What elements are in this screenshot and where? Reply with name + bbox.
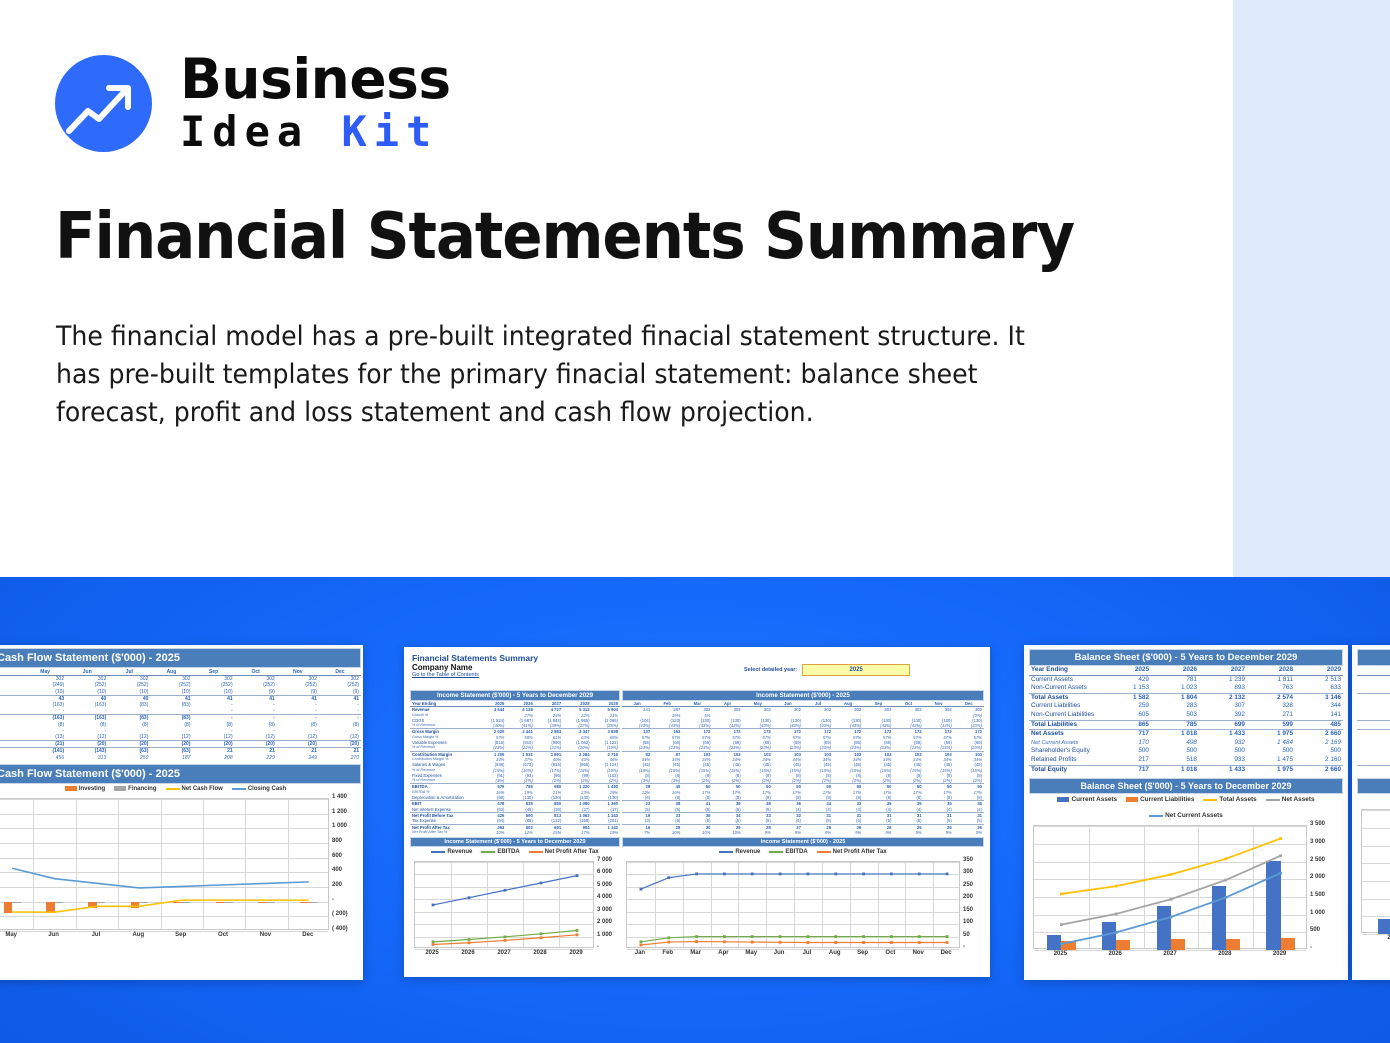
column-header: May xyxy=(24,669,66,676)
y-axis-tick: 3 500 xyxy=(1310,821,1325,827)
cell: 302 xyxy=(235,676,277,683)
balance-table-title: Balance Sheet ($'000) - 5 Years to Decem… xyxy=(1029,649,1343,666)
table-row: (163)(163)(83)(83)---- xyxy=(0,715,361,722)
y-axis-tick: 300 xyxy=(963,869,973,875)
cell: (10) xyxy=(193,689,235,696)
row-label: Shareholder's Equity xyxy=(1029,747,1103,756)
legend-swatch xyxy=(232,788,246,790)
cell: 302 xyxy=(66,676,108,683)
screenshot-income-statement[interactable]: Financial Statements Summary Company Nam… xyxy=(404,647,990,977)
x-axis-tick: Mar xyxy=(682,950,710,956)
cell: 500 xyxy=(1103,747,1151,756)
x-axis-tick: Jan xyxy=(626,950,654,956)
legend-swatch xyxy=(769,851,783,853)
legend-label: Current Liabilities xyxy=(1140,796,1194,803)
cell: 21 xyxy=(193,748,235,755)
cell: 344 xyxy=(1295,702,1343,711)
y-axis-tick: 600 xyxy=(332,853,342,859)
cell: 498 xyxy=(1151,739,1199,748)
cell: 271 xyxy=(1247,711,1295,720)
cashflow-chart-legend: InvestingFinancingNet Cash FlowClosing C… xyxy=(0,784,363,794)
row-label xyxy=(0,689,24,696)
cell: 7% xyxy=(622,830,652,835)
legend-item: Closing Cash xyxy=(232,786,286,792)
y-axis-tick: 5 000 xyxy=(597,882,612,888)
legend-item: Revenue xyxy=(431,849,472,855)
cell: (12) xyxy=(193,734,235,741)
cell: 429 xyxy=(1103,675,1151,684)
cell: 599 xyxy=(1247,720,1295,730)
table-row: Non-Current Assets1 1531 023893763633 xyxy=(1029,684,1343,693)
cell: - xyxy=(319,715,361,722)
balance-monthly-chart: 3 5003 0002 5002 0001 5001 000500-2025 xyxy=(1357,805,1390,947)
cell: (20) xyxy=(235,741,277,748)
cell: (12) xyxy=(150,734,192,741)
row-label: Retained Profits xyxy=(1029,756,1103,765)
cell: 12% xyxy=(506,830,534,835)
cell: 500 xyxy=(1295,747,1343,756)
legend-swatch xyxy=(65,786,77,791)
x-axis-tick: 2026 xyxy=(1088,951,1143,957)
y-axis-tick: 1 400 xyxy=(332,794,347,800)
table-row: 7%10%10%10%9%9%9%9%9%9%9%9% xyxy=(622,830,984,835)
x-axis-tick: Jul xyxy=(793,950,821,956)
legend-swatch xyxy=(1126,797,1138,802)
column-header: 2029 xyxy=(1295,666,1343,675)
table-row: Total Assets1 5821 8042 1322 5743 146 xyxy=(1029,693,1343,702)
legend-label: Net Cash Flow xyxy=(182,786,223,792)
cell: (163) xyxy=(24,715,66,722)
column-header: 2027 xyxy=(1199,666,1247,675)
x-axis-tick: Sep xyxy=(160,932,202,938)
cell: 43 xyxy=(24,695,66,702)
cell: 41 xyxy=(277,695,319,702)
cell: 500 xyxy=(1199,747,1247,756)
legend-swatch xyxy=(1149,815,1163,817)
y-axis-tick: - xyxy=(597,944,599,950)
select-year-label: Select detailed year: xyxy=(744,667,797,673)
cell: 518 xyxy=(1151,756,1199,765)
cell: - xyxy=(277,715,319,722)
chart-lines xyxy=(1034,826,1308,950)
x-axis-tick: 2028 xyxy=(522,950,558,956)
cell: 283 xyxy=(1151,702,1199,711)
cell: (10) xyxy=(66,689,108,696)
cell: 40 xyxy=(108,695,150,702)
column-header: Dec xyxy=(319,669,361,676)
cell: (20) xyxy=(277,741,319,748)
spacer xyxy=(1357,756,1390,765)
cell: 41 xyxy=(319,695,361,702)
cell: 9% xyxy=(924,830,954,835)
x-axis-tick: 2025 xyxy=(1033,951,1088,957)
screenshot-balance-sheet-monthly[interactable]: Jan1 1741241 297936927865121 08150012512… xyxy=(1352,645,1390,980)
x-axis-tick: Nov xyxy=(244,932,286,938)
cell: 21 xyxy=(235,748,277,755)
cell: 1 018 xyxy=(1151,730,1199,739)
spacer xyxy=(1357,739,1390,748)
brand-name-primary: Business xyxy=(180,52,451,107)
row-label xyxy=(0,748,24,755)
cell: 717 xyxy=(1103,730,1151,739)
table-row: (21)(20)(20)(20)(20)(20)(20)(20) xyxy=(0,741,361,748)
spacer xyxy=(1357,711,1390,720)
y-axis-tick: 1 000 xyxy=(597,932,612,938)
cell: 781 xyxy=(1151,675,1199,684)
cell: (12) xyxy=(235,734,277,741)
y-axis-tick: 250 xyxy=(963,882,973,888)
legend-item: Net Profit After Tax xyxy=(529,849,599,855)
row-label xyxy=(0,676,24,683)
y-axis-tick: 2 000 xyxy=(1310,874,1325,880)
table-row: 1 081 xyxy=(1357,739,1390,748)
cell: 1 582 xyxy=(1103,693,1151,702)
x-axis-tick: 2029 xyxy=(558,950,594,956)
cell: 270 xyxy=(319,755,361,761)
table-row: 93 xyxy=(1357,702,1390,711)
brand-name-secondary: Idea Kit xyxy=(180,109,451,155)
cell: (141) xyxy=(24,748,66,755)
x-axis-tick: Jul xyxy=(75,932,117,938)
cell: (12) xyxy=(66,734,108,741)
column-header: Sep xyxy=(193,669,235,676)
table-header-row: MayJunJulAugSepOctNovDec xyxy=(0,669,361,676)
legend-item: Financing xyxy=(114,786,156,792)
cell: (12) xyxy=(277,734,319,741)
cashflow-chart-title: Cash Flow Statement ($'000) - 2025 xyxy=(0,764,361,784)
cell: 633 xyxy=(1295,684,1343,693)
plot-area xyxy=(626,861,960,948)
cell: 763 xyxy=(1247,684,1295,693)
column-header: Nov xyxy=(277,669,319,676)
legend-swatch xyxy=(529,851,543,853)
cell: 229 xyxy=(235,755,277,761)
cell: (20) xyxy=(193,741,235,748)
income-monthly-chart: 35030025020015010050-JanFebMarAprMayJunJ… xyxy=(622,857,984,962)
table-row: Net Profit After Tax %10%12%15%17%19% xyxy=(410,830,620,835)
table-row: Non-Current Liabilities605503392271141 xyxy=(1029,711,1343,720)
income-monthly-chart-title: Income Statement ($'000) - 2025 xyxy=(622,837,984,847)
cell: 9% xyxy=(893,830,923,835)
cell: (9) xyxy=(319,689,361,696)
cell: 302 xyxy=(319,676,361,683)
row-label xyxy=(0,708,24,715)
y-axis-tick: - xyxy=(963,944,965,950)
income-monthly-chart-legend: RevenueEBITDANet Profit After Tax xyxy=(622,847,984,857)
cell: 328 xyxy=(1247,702,1295,711)
cell: - xyxy=(193,715,235,722)
table-row: 500 xyxy=(1357,747,1390,756)
cell: 1 975 xyxy=(1247,765,1295,774)
cell: 932 xyxy=(1199,739,1247,748)
table-row: 456313250187208229249270 xyxy=(0,755,361,761)
cell: - xyxy=(235,715,277,722)
cell: 41 xyxy=(150,695,192,702)
cell: 9% xyxy=(863,830,893,835)
table-row: 1 297 xyxy=(1357,693,1390,702)
cell: 19% xyxy=(592,830,620,835)
table-row: 124 xyxy=(1357,684,1390,693)
cell: 9% xyxy=(803,830,833,835)
row-label: Net Profit After Tax % xyxy=(410,830,478,835)
cell: 307 xyxy=(1199,702,1247,711)
cell: (9) xyxy=(235,689,277,696)
table-row: Retained Profits2175189331 4752 160 xyxy=(1029,756,1343,765)
cell: (143) xyxy=(66,748,108,755)
legend-label: Current Assets xyxy=(1071,796,1117,803)
cell: 9% xyxy=(833,830,863,835)
y-axis-tick: 200 xyxy=(332,882,342,888)
legend-swatch xyxy=(1266,799,1280,801)
legend-item: Current Assets xyxy=(1057,796,1117,803)
legend-item: Net Assets xyxy=(1266,796,1315,803)
column-header: 2026 xyxy=(1151,666,1199,675)
y-axis-tick: 1 000 xyxy=(332,823,347,829)
plot-area xyxy=(1361,809,1390,933)
legend-item: Net Current Assets xyxy=(1149,812,1223,819)
column-header: 2025 xyxy=(1103,666,1151,675)
x-axis-tick: Jun xyxy=(765,950,793,956)
cell: - xyxy=(24,708,66,715)
cell: 10% xyxy=(478,830,506,835)
cell: - xyxy=(235,708,277,715)
table-row: 4340404141414141 xyxy=(0,695,361,702)
select-year-dropdown[interactable]: 2025 xyxy=(802,664,910,676)
cell: 10% xyxy=(682,830,712,835)
cell: (10) xyxy=(108,689,150,696)
legend-swatch xyxy=(719,851,733,853)
table-row: 12 xyxy=(1357,756,1390,765)
cell: (12) xyxy=(108,734,150,741)
y-axis-tick: ( 200) xyxy=(332,911,348,917)
table-header-row: Jan xyxy=(1357,666,1390,675)
y-axis-tick: 7 000 xyxy=(597,857,612,863)
legend-label: Revenue xyxy=(735,849,760,855)
cell: 21 xyxy=(277,748,319,755)
cell: 1 239 xyxy=(1199,675,1247,684)
cell: - xyxy=(66,708,108,715)
cell: 500 xyxy=(1247,747,1295,756)
cell: 2 160 xyxy=(1295,756,1343,765)
table-row: Total Liabilities865785699599485 xyxy=(1029,720,1343,730)
x-axis-tick: 2027 xyxy=(486,950,522,956)
cell: 2 513 xyxy=(1295,675,1343,684)
legend-label: Net Current Assets xyxy=(1165,812,1223,819)
x-axis-tick: Aug xyxy=(821,950,849,956)
cell: (20) xyxy=(108,741,150,748)
legend-item: Current Liabilities xyxy=(1126,796,1194,803)
cell: (83) xyxy=(108,715,150,722)
column-header: Jul xyxy=(108,669,150,676)
chart-lines xyxy=(415,862,595,949)
legend-item: EBITDA xyxy=(769,849,807,855)
cell: 1 023 xyxy=(1151,684,1199,693)
header-section: Business Idea Kit Financial Statements S… xyxy=(0,0,1390,577)
cell: 485 xyxy=(1295,720,1343,730)
y-axis-tick: 150 xyxy=(963,907,973,913)
x-axis-tick: Oct xyxy=(202,932,244,938)
cell: (20) xyxy=(319,741,361,748)
cell: 9% xyxy=(954,830,984,835)
column-header: Oct xyxy=(235,669,277,676)
cell: 893 xyxy=(1199,684,1247,693)
cell: 1 475 xyxy=(1247,756,1295,765)
table-row: Total Equity7171 0181 4331 9752 660 xyxy=(1029,765,1343,774)
table-row: (249)(252)(252)(252)(252)(252)(252)(252) xyxy=(0,682,361,688)
screenshot-cash-flow-statement[interactable]: Cash Flow Statement ($'000) - 2025 MayJu… xyxy=(0,645,363,980)
cell: (9) xyxy=(277,689,319,696)
cell: 21 xyxy=(319,748,361,755)
x-axis-tick: Apr xyxy=(710,950,738,956)
cell: 1 433 xyxy=(1199,765,1247,774)
legend-label: EBITDA xyxy=(497,849,519,855)
spacer xyxy=(1357,702,1390,711)
plot-area xyxy=(1033,825,1307,949)
x-axis-tick: 2029 xyxy=(1252,951,1307,957)
x-axis-tick: May xyxy=(0,932,32,938)
cell: 717 xyxy=(1103,765,1151,774)
cell: (12) xyxy=(319,734,361,741)
cell: 302 xyxy=(24,676,66,683)
x-axis-tick: 2028 xyxy=(1197,951,1252,957)
table-row: 512 xyxy=(1357,765,1390,774)
cell: 41 xyxy=(235,695,277,702)
cell: 785 xyxy=(1151,720,1199,730)
table-row: 692 xyxy=(1357,711,1390,720)
screenshot-balance-sheet[interactable]: Balance Sheet ($'000) - 5 Years to Decem… xyxy=(1024,645,1348,980)
legend-label: Net Profit After Tax xyxy=(833,849,887,855)
cell: 249 xyxy=(277,755,319,761)
spacer xyxy=(1357,693,1390,702)
row-label: Non-Current Assets xyxy=(1029,684,1103,693)
legend-item: Net Cash Flow xyxy=(166,786,223,792)
chart-lines xyxy=(0,799,330,931)
page-title: Financial Statements Summary xyxy=(55,200,1074,274)
table-row: Current Assets4297811 2391 8112 513 xyxy=(1029,675,1343,684)
cell: 302 xyxy=(108,676,150,683)
y-axis-tick: 350 xyxy=(963,857,973,863)
legend-item: Total Assets xyxy=(1203,796,1256,803)
cell: 250 xyxy=(108,755,150,761)
cell: 933 xyxy=(1199,756,1247,765)
cell: 141 xyxy=(1295,711,1343,720)
cell: (63) xyxy=(108,748,150,755)
cell: 259 xyxy=(1103,702,1151,711)
cell: 17% xyxy=(563,830,591,835)
spacer xyxy=(1357,765,1390,774)
x-axis-tick: 2025 xyxy=(1361,935,1390,941)
x-axis-tick: May xyxy=(737,950,765,956)
cell: 15% xyxy=(535,830,563,835)
x-axis-tick: 2027 xyxy=(1143,951,1198,957)
spacer xyxy=(1357,720,1390,730)
balance-chart: 3 5003 0002 5002 0001 5001 000500-202520… xyxy=(1029,821,1343,963)
table-header-row: Year Ending20252026202720282029 xyxy=(1029,666,1343,675)
cell: - xyxy=(150,708,192,715)
y-axis-tick: 200 xyxy=(963,894,973,900)
x-axis-tick: 2026 xyxy=(450,950,486,956)
table-row: Shareholder's Equity500500500500500 xyxy=(1029,747,1343,756)
cell: 699 xyxy=(1199,720,1247,730)
row-label xyxy=(0,734,24,741)
cell: 392 xyxy=(1199,711,1247,720)
legend-label: Closing Cash xyxy=(248,786,286,792)
spacer xyxy=(1357,730,1390,739)
cell: 1 018 xyxy=(1151,765,1199,774)
legend-label: Net Profit After Tax xyxy=(545,849,599,855)
decorative-side-panel xyxy=(1233,0,1390,577)
row-label: Total Liabilities xyxy=(1029,720,1103,730)
chart-lines xyxy=(627,862,961,949)
x-axis-tick: 2025 xyxy=(414,950,450,956)
x-axis-tick: Oct xyxy=(877,950,905,956)
cashflow-table-title: Cash Flow Statement ($'000) - 2025 xyxy=(0,648,361,668)
legend-swatch xyxy=(481,851,495,853)
cell: 302 xyxy=(193,676,235,683)
x-axis-tick: Dec xyxy=(287,932,329,938)
row-label: Net Assets xyxy=(1029,730,1103,739)
x-axis-tick: Feb xyxy=(654,950,682,956)
table-row: (141)(143)(63)(63)21212121 xyxy=(0,748,361,755)
cell: 2 574 xyxy=(1247,693,1295,702)
x-axis-tick: Nov xyxy=(904,950,932,956)
cell: 208 xyxy=(193,755,235,761)
income-annual-chart: 7 0006 0005 0004 0003 0002 0001 000-2025… xyxy=(410,857,620,962)
cell: (20) xyxy=(66,741,108,748)
y-axis-tick: 3 000 xyxy=(1310,839,1325,845)
cell: (63) xyxy=(150,748,192,755)
row-label: Year Ending xyxy=(1029,666,1103,675)
legend-swatch xyxy=(166,788,180,790)
legend-swatch xyxy=(431,851,445,853)
legend-swatch xyxy=(817,851,831,853)
page-description: The financial model has a pre-built inte… xyxy=(56,318,1035,432)
cell: 187 xyxy=(150,755,192,761)
cell: (13) xyxy=(24,734,66,741)
brand-kit-text: Kit xyxy=(341,107,438,156)
legend-swatch xyxy=(1057,797,1069,802)
plot-area xyxy=(414,861,594,948)
cashflow-chart: 1 4001 2001 000800600400200-( 200)( 400)… xyxy=(0,794,363,944)
cell: (163) xyxy=(66,715,108,722)
cell: 1 811 xyxy=(1247,675,1295,684)
legend-item: EBITDA xyxy=(481,849,519,855)
cell: 1 484 xyxy=(1247,739,1295,748)
balance-chart-legend: Current AssetsCurrent LiabilitiesTotal A… xyxy=(1029,794,1343,821)
legend-label: EBITDA xyxy=(785,849,807,855)
cell: - xyxy=(193,708,235,715)
spacer xyxy=(1357,675,1390,684)
row-label xyxy=(0,741,24,748)
cell: (21) xyxy=(24,741,66,748)
y-axis-tick: 1 000 xyxy=(1310,910,1325,916)
cell: 40 xyxy=(66,695,108,702)
legend-swatch xyxy=(114,786,126,791)
row-label: Current Liabilities xyxy=(1029,702,1103,711)
legend-item: Net Profit After Tax xyxy=(817,849,887,855)
income-annual-chart-legend: RevenueEBITDANet Profit After Tax xyxy=(410,847,620,857)
row-label xyxy=(0,715,24,722)
cell: 865 xyxy=(1103,720,1151,730)
table-row: (13)(12)(12)(12)(12)(12)(12)(12) xyxy=(0,734,361,741)
y-axis-tick: 3 000 xyxy=(597,907,612,913)
table-row: (10)(10)(10)(10)(10)(9)(9)(9) xyxy=(0,689,361,696)
cell: 2 132 xyxy=(1199,693,1247,702)
cell: 10% xyxy=(712,830,742,835)
x-axis-tick: Jun xyxy=(32,932,74,938)
cell: 456 xyxy=(24,755,66,761)
cell: (20) xyxy=(150,741,192,748)
